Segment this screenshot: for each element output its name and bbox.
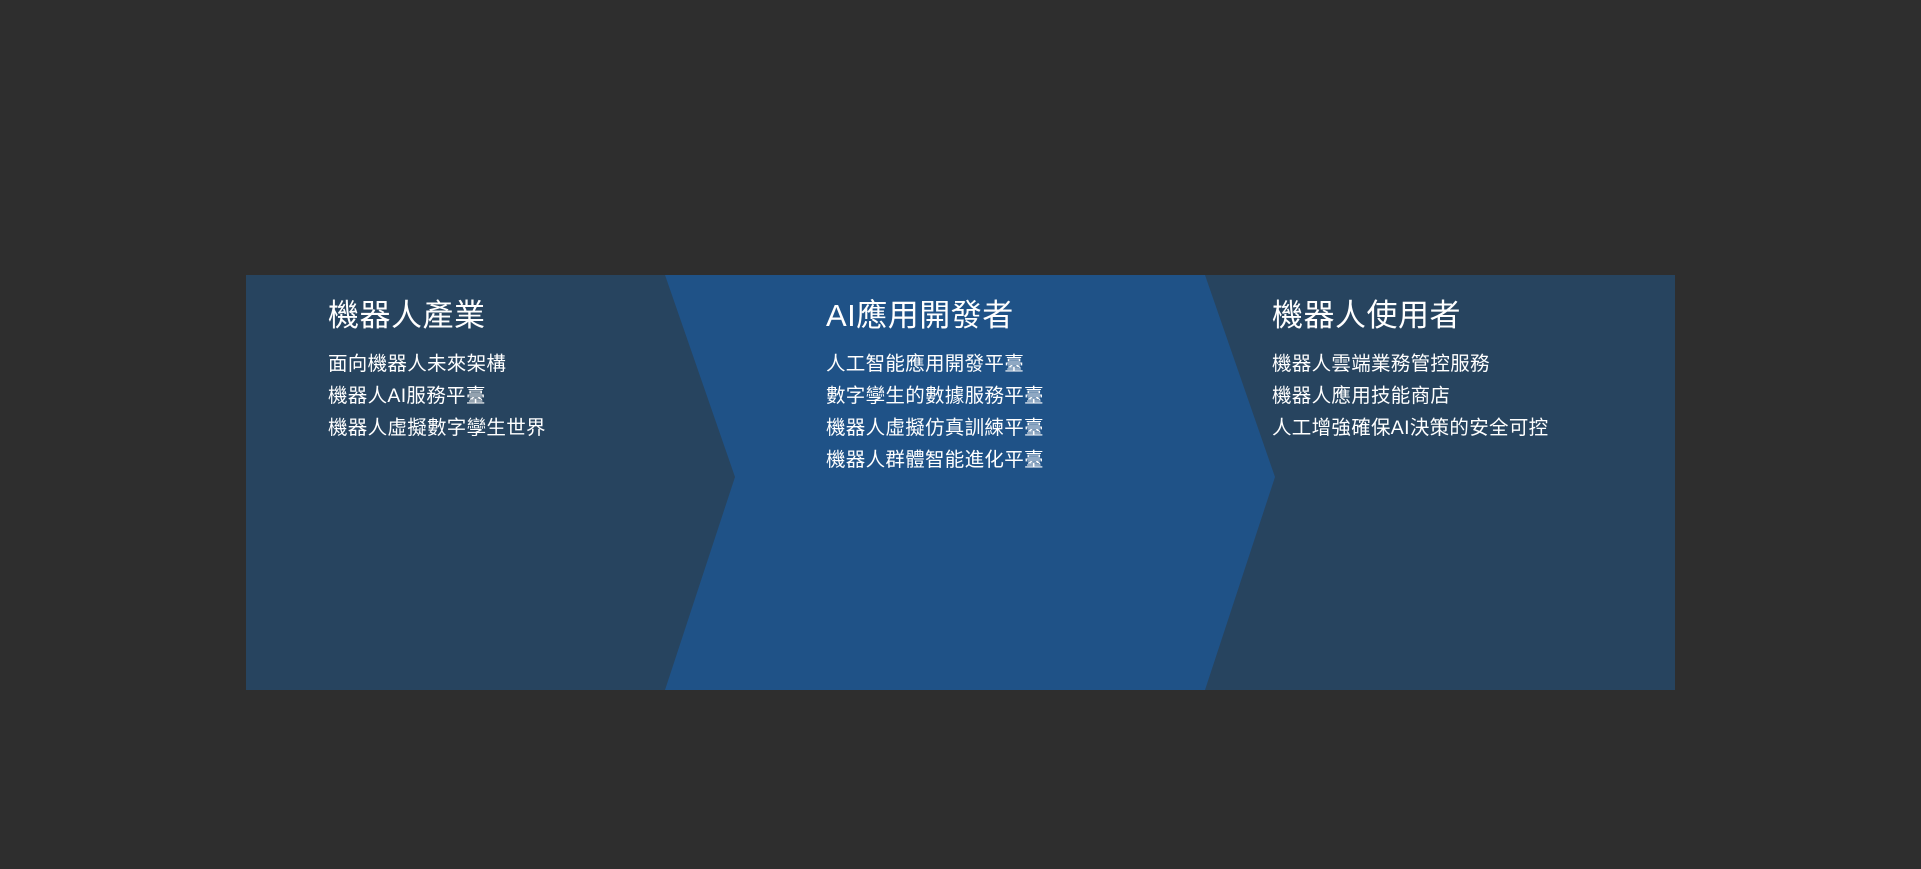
list-item: 機器人雲端業務管控服務 <box>1272 355 1548 375</box>
column-robot-user: 機器人使用者 機器人雲端業務管控服務 機器人應用技能商店 人工增強確保AI決策的… <box>1272 275 1662 690</box>
column-item-list: 機器人雲端業務管控服務 機器人應用技能商店 人工增強確保AI決策的安全可控 <box>1272 355 1548 451</box>
list-item: 人工增強確保AI決策的安全可控 <box>1272 419 1548 439</box>
column-item-list: 人工智能應用開發平臺 數字孿生的數據服務平臺 機器人虛擬仿真訓練平臺 機器人群體… <box>826 355 1044 483</box>
column-ai-app-developer: AI應用開發者 人工智能應用開發平臺 數字孿生的數據服務平臺 機器人虛擬仿真訓練… <box>826 275 1206 690</box>
list-item: 機器人虛擬數字孿生世界 <box>328 419 546 439</box>
chevron-banner: 機器人產業 面向機器人未來架構 機器人AI服務平臺 機器人虛擬數字孿生世界 AI… <box>246 275 1675 690</box>
list-item: 人工智能應用開發平臺 <box>826 355 1044 375</box>
columns-container: 機器人產業 面向機器人未來架構 機器人AI服務平臺 機器人虛擬數字孿生世界 AI… <box>246 275 1675 690</box>
list-item: 數字孿生的數據服務平臺 <box>826 387 1044 407</box>
column-item-list: 面向機器人未來架構 機器人AI服務平臺 機器人虛擬數字孿生世界 <box>328 355 546 451</box>
list-item: 機器人應用技能商店 <box>1272 387 1548 407</box>
list-item: 機器人AI服務平臺 <box>328 387 546 407</box>
list-item: 機器人群體智能進化平臺 <box>826 451 1044 471</box>
column-heading: 機器人使用者 <box>1272 297 1461 334</box>
column-heading: 機器人產業 <box>328 297 486 334</box>
column-robot-industry: 機器人產業 面向機器人未來架構 機器人AI服務平臺 機器人虛擬數字孿生世界 <box>328 275 698 690</box>
list-item: 面向機器人未來架構 <box>328 355 546 375</box>
list-item: 機器人虛擬仿真訓練平臺 <box>826 419 1044 439</box>
column-heading: AI應用開發者 <box>826 297 1014 334</box>
